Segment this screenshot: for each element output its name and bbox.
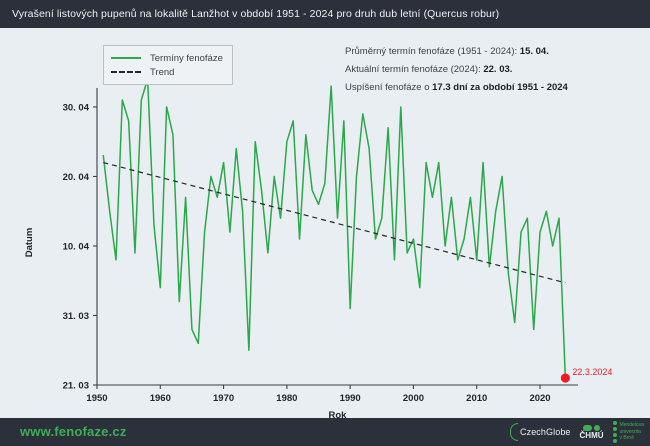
header-bar: Vyrašení listových pupenů na lokalitě La… (0, 0, 650, 28)
x-tick-label: 1980 (276, 393, 297, 404)
footer-logos: CzechGlobe ČHMÚ Mendelova univerzita v B… (510, 418, 644, 446)
annotation-current-label: Aktuální termín fenofáze (2024): (345, 64, 481, 75)
annotation-current-value: 22. 03. (483, 64, 512, 75)
chmu-logo: ČHMÚ (580, 425, 604, 440)
chart-axes: 30. 0420. 0410. 0431. 0321. 031950196019… (24, 88, 578, 418)
x-tick-label: 2010 (466, 393, 487, 404)
footer-bar: www.fenofaze.cz CzechGlobe ČHMÚ Mendelov… (0, 418, 650, 446)
legend-label-trend: Trend (150, 67, 174, 78)
chmu-label: ČHMÚ (580, 432, 604, 440)
annotation-average-value: 15. 04. (520, 46, 549, 57)
legend-item-trend: Trend (111, 65, 223, 79)
x-tick-label: 1950 (86, 393, 107, 404)
mendel-logo: Mendelova univerzita v Brně (613, 421, 644, 443)
czechglobe-arc-icon (510, 423, 518, 441)
x-tick-label: 2000 (403, 393, 424, 404)
mendel-label: Mendelova univerzita v Brně (620, 422, 644, 442)
legend-dashed-swatch-icon (111, 67, 141, 77)
series-line-path (103, 79, 565, 378)
x-axis-title: Rok (329, 410, 348, 418)
y-axis-title: Datum (24, 228, 35, 258)
highlight-point-label: 22.3.2024 (572, 367, 612, 377)
y-tick-label: 30. 04 (63, 102, 90, 113)
chart-area: 30. 0420. 0410. 0431. 0321. 031950196019… (0, 28, 650, 418)
x-tick-label: 1970 (213, 393, 234, 404)
czechglobe-label: CzechGlobe (520, 427, 571, 437)
x-tick-label: 1960 (150, 393, 171, 404)
chmu-dots-icon (583, 425, 600, 431)
annotation-average-label: Průměrný termín fenofáze (1951 - 2024): (345, 46, 517, 57)
chart-legend: Termíny fenofáze Trend (103, 45, 233, 85)
annotation-shift-value: 17.3 dní za období 1951 - 2024 (432, 82, 568, 93)
chart-annotations: Průměrný termín fenofáze (1951 - 2024): … (345, 46, 645, 100)
y-tick-label: 10. 04 (63, 241, 90, 252)
page-title: Vyrašení listových pupenů na lokalitě La… (12, 0, 499, 28)
footer-website-link[interactable]: www.fenofaze.cz (20, 418, 127, 446)
annotation-current: Aktuální termín fenofáze (2024): 22. 03. (345, 64, 645, 75)
chart-page: Vyrašení listových pupenů na lokalitě La… (0, 0, 650, 446)
mendel-dots-icon (613, 421, 617, 443)
chart-series-group: 22.3.2024 (103, 79, 612, 382)
legend-label-series: Termíny fenofáze (150, 53, 223, 64)
trend-line-path (103, 163, 565, 283)
annotation-shift: Uspíšení fenofáze o 17.3 dní za období 1… (345, 82, 645, 93)
highlight-point-marker (561, 373, 570, 382)
legend-solid-swatch-icon (111, 53, 141, 63)
annotation-average: Průměrný termín fenofáze (1951 - 2024): … (345, 46, 645, 57)
czechglobe-logo: CzechGlobe (510, 423, 571, 441)
y-tick-label: 21. 03 (63, 381, 89, 392)
x-tick-label: 1990 (340, 393, 361, 404)
legend-item-series: Termíny fenofáze (111, 51, 223, 65)
y-tick-label: 20. 04 (63, 172, 90, 183)
y-tick-label: 31. 03 (63, 311, 89, 322)
annotation-shift-label: Uspíšení fenofáze o (345, 82, 430, 93)
x-tick-label: 2020 (529, 393, 550, 404)
